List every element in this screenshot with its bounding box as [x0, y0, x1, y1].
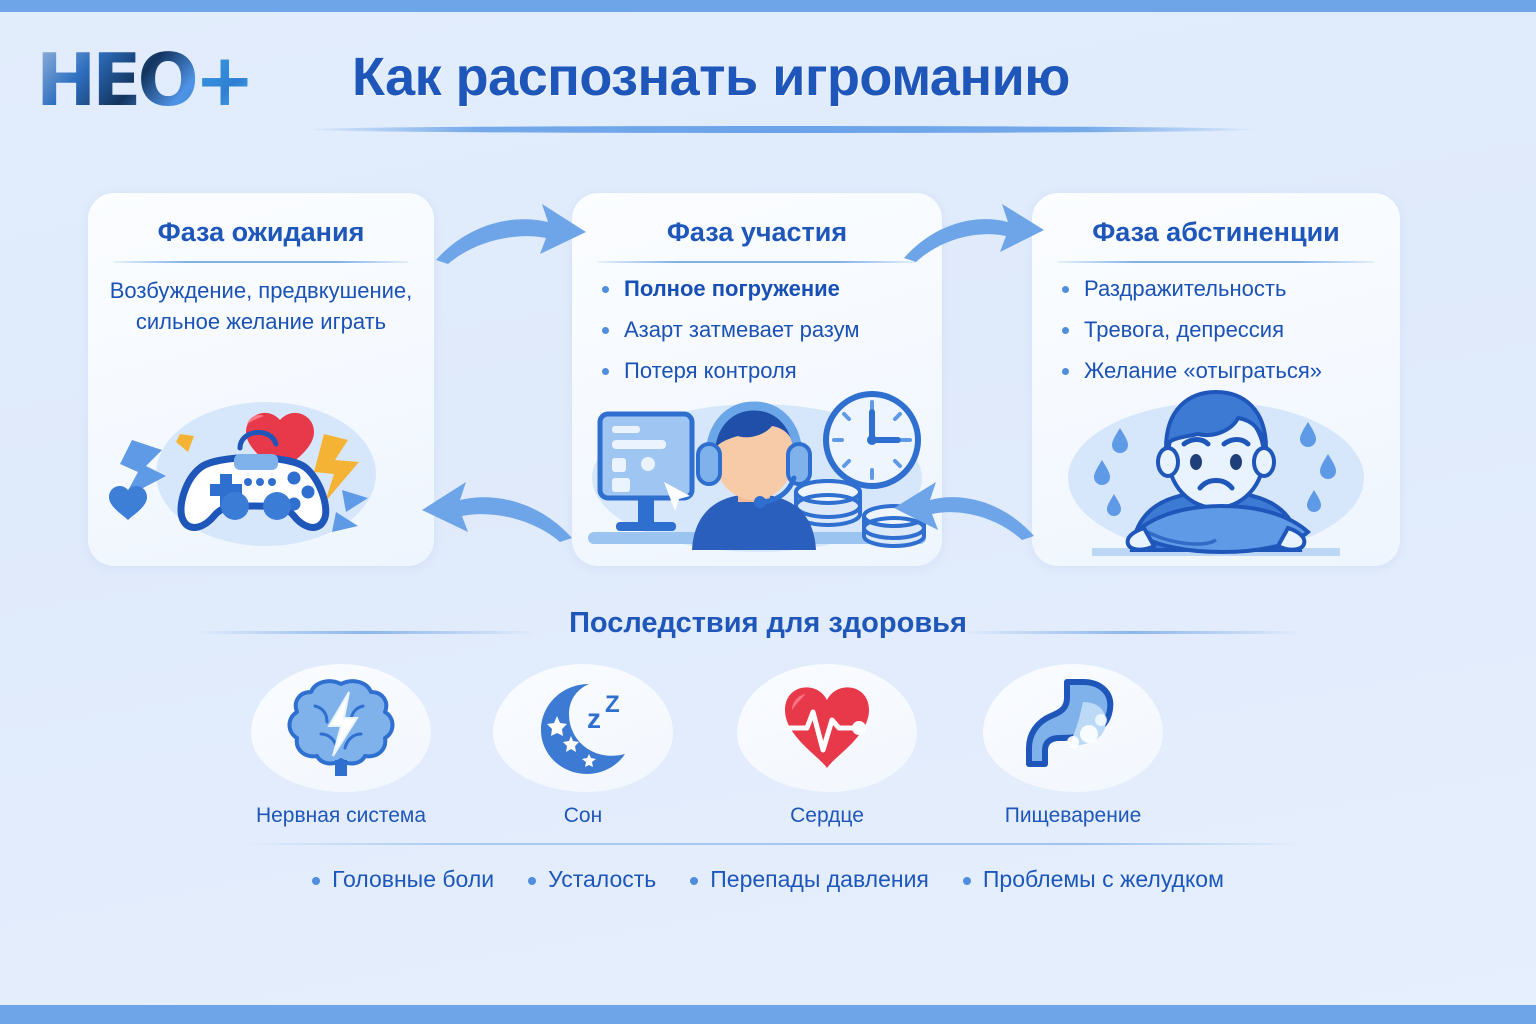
icon-backdrop	[737, 664, 917, 792]
phase-card-title: Фаза абстиненции	[1032, 217, 1400, 248]
consequence-label: Нервная система	[246, 804, 436, 828]
consequences-heading: Последствия для здоровья	[0, 607, 1536, 640]
bottom-accent-bar	[0, 1005, 1536, 1024]
phase-card-title: Фаза участия	[572, 217, 942, 248]
brand-logo-text: НЕО	[36, 38, 195, 122]
phase-card-waiting[interactable]: Фаза ожидания Возбуждение, предвкушение,…	[88, 193, 434, 566]
symptoms-divider	[240, 843, 1300, 845]
phase-card-body: Возбуждение, предвкушение, сильное желан…	[88, 275, 434, 337]
symptom-item: Усталость	[528, 866, 656, 893]
symptom-item: Головные боли	[312, 866, 494, 893]
phase-card-participation[interactable]: Фаза участия Полное погружение Азарт зат…	[572, 193, 942, 566]
gamer-monitor-clock-coins-illustration	[572, 382, 942, 562]
sad-person-illustration	[1032, 382, 1400, 562]
consequence-item-nervous-system[interactable]: Нервная система	[246, 664, 436, 828]
heart-ecg-icon	[771, 676, 883, 780]
phase-card-body: Полное погружение Азарт затмевает разум …	[572, 275, 942, 398]
brand-logo-plus: +	[195, 38, 251, 122]
title-divider	[305, 126, 1257, 133]
phase-card-divider	[114, 261, 408, 263]
icon-backdrop	[251, 664, 431, 792]
phase-card-paragraph: Возбуждение, предвкушение, сильное желан…	[88, 275, 434, 337]
top-accent-bar	[0, 0, 1536, 12]
svg-text:z: z	[587, 703, 601, 734]
arrow-phase3-to-phase2	[890, 478, 1040, 549]
consequence-label: Сон	[488, 804, 678, 828]
arrow-phase2-to-phase1	[418, 478, 578, 549]
symptom-item: Проблемы с желудком	[963, 866, 1224, 893]
icon-backdrop: z Z	[493, 664, 673, 792]
brand-logo: НЕО+	[36, 44, 251, 116]
phase-card-divider	[598, 261, 916, 263]
consequence-label: Пищеварение	[978, 804, 1168, 828]
moon-zzz-icon: z Z	[527, 676, 639, 780]
gamepad-hearts-illustration	[88, 382, 434, 562]
brain-lightning-icon	[285, 676, 397, 780]
consequence-label: Сердце	[732, 804, 922, 828]
consequences-rule-right	[962, 631, 1302, 634]
phase-bullet: Полное погружение	[602, 275, 932, 303]
phase-card-divider	[1058, 261, 1374, 263]
consequence-item-digestion[interactable]: Пищеварение	[978, 664, 1168, 828]
consequence-item-sleep[interactable]: z Z Сон	[488, 664, 678, 828]
phase-card-title: Фаза ожидания	[88, 217, 434, 248]
phase-bullet: Тревога, депрессия	[1062, 316, 1390, 344]
page-title: Как распознать игроманию	[352, 46, 1182, 108]
symptom-item: Перепады давления	[690, 866, 929, 893]
arrow-phase2-to-phase3	[898, 200, 1048, 271]
phase-card-body: Раздражительность Тревога, депрессия Жел…	[1032, 275, 1400, 398]
icon-backdrop	[983, 664, 1163, 792]
phase-bullet: Раздражительность	[1062, 275, 1390, 303]
symptoms-list: Головные боли Усталость Перепады давлени…	[0, 866, 1536, 893]
phase-bullet: Азарт затмевает разум	[602, 316, 932, 344]
phase-card-withdrawal[interactable]: Фаза абстиненции Раздражительность Трево…	[1032, 193, 1400, 566]
phase-bullet-list: Полное погружение Азарт затмевает разум …	[572, 275, 942, 385]
consequences-rule-left	[196, 631, 536, 634]
stomach-icon	[1017, 676, 1129, 780]
infographic-canvas: НЕО+ Как распознать игроманию Фаза ожида…	[0, 0, 1536, 1024]
arrow-phase1-to-phase2	[430, 200, 590, 271]
phase-bullet-list: Раздражительность Тревога, депрессия Жел…	[1032, 275, 1400, 385]
consequence-item-heart[interactable]: Сердце	[732, 664, 922, 828]
svg-text:Z: Z	[605, 691, 620, 718]
